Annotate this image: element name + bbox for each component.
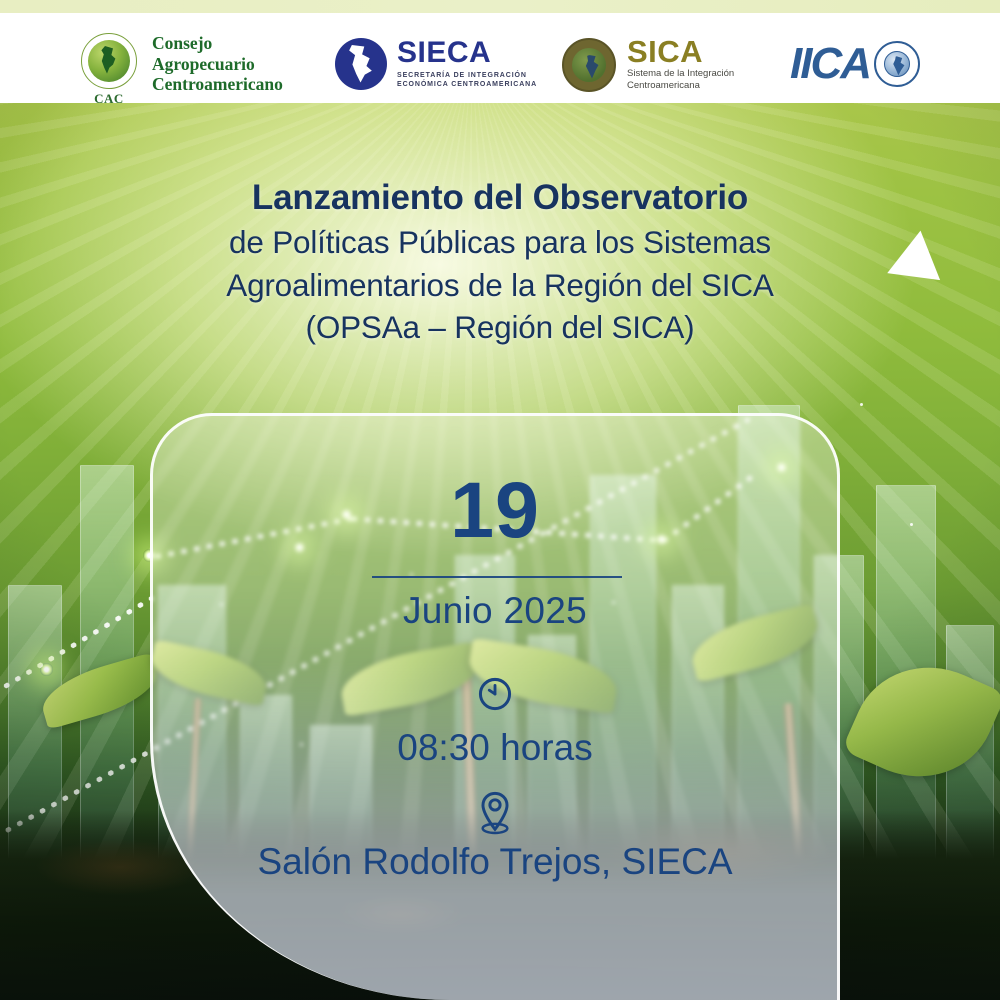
headline-line-3: Agroalimentarios de la Región del SICA bbox=[0, 264, 1000, 307]
iica-name: IICA bbox=[790, 42, 870, 86]
event-month-year: Junio 2025 bbox=[150, 590, 840, 632]
headline-line-2: de Políticas Públicas para los Sistemas bbox=[0, 221, 1000, 264]
map-pin-icon bbox=[477, 791, 513, 835]
cac-name-line3: Centroamericano bbox=[152, 74, 283, 95]
logo-sica: SICA Sistema de la Integración Centroame… bbox=[562, 37, 734, 92]
event-venue: Salón Rodolfo Trejos, SIECA bbox=[150, 841, 840, 883]
top-accent-strip bbox=[0, 0, 1000, 13]
cac-name-line1: Consejo bbox=[152, 33, 283, 54]
sica-sub-line2: Centroamericana bbox=[627, 80, 734, 92]
cac-globe-seal-icon: CAC bbox=[78, 33, 140, 95]
cac-name-line2: Agropecuario bbox=[152, 54, 283, 75]
clock-icon-row bbox=[150, 675, 840, 713]
sica-seal-icon bbox=[562, 38, 616, 92]
page-title: Lanzamiento del Observatorio de Política… bbox=[0, 176, 1000, 349]
sieca-name: SIECA bbox=[397, 39, 537, 68]
logo-header-band: CAC Consejo Agropecuario Centroamericano… bbox=[0, 13, 1000, 103]
iica-globe-seal-icon bbox=[874, 41, 920, 87]
logo-cac: CAC Consejo Agropecuario Centroamericano bbox=[78, 33, 283, 95]
clock-icon bbox=[476, 675, 514, 713]
sieca-central-america-circle-icon bbox=[335, 38, 387, 90]
date-divider bbox=[372, 576, 622, 578]
sica-subtitle: Sistema de la Integración Centroamerican… bbox=[627, 68, 734, 92]
event-poster: CAC Consejo Agropecuario Centroamericano… bbox=[0, 0, 1000, 1000]
headline-line-1: Lanzamiento del Observatorio bbox=[0, 176, 1000, 221]
event-time: 08:30 horas bbox=[150, 727, 840, 769]
logo-sieca: SIECA SECRETARÍA DE INTEGRACIÓN ECONÓMIC… bbox=[335, 38, 537, 90]
map-pin-icon-row bbox=[150, 791, 840, 835]
cac-name: Consejo Agropecuario Centroamericano bbox=[152, 33, 283, 95]
headline-line-4: (OPSAa – Región del SICA) bbox=[0, 306, 1000, 349]
logo-iica: IICA bbox=[790, 41, 920, 87]
sieca-subtitle: SECRETARÍA DE INTEGRACIÓN ECONÓMICA CENT… bbox=[397, 71, 537, 89]
sieca-sub-line2: ECONÓMICA CENTROAMERICANA bbox=[397, 80, 537, 89]
sica-sub-line1: Sistema de la Integración bbox=[627, 68, 734, 80]
event-day: 19 bbox=[150, 470, 840, 549]
event-details-content: 19 Junio 2025 08:30 horas Salón Rodolfo … bbox=[150, 413, 840, 1000]
sieca-sub-line1: SECRETARÍA DE INTEGRACIÓN bbox=[397, 71, 537, 80]
sica-name: SICA bbox=[627, 37, 734, 66]
